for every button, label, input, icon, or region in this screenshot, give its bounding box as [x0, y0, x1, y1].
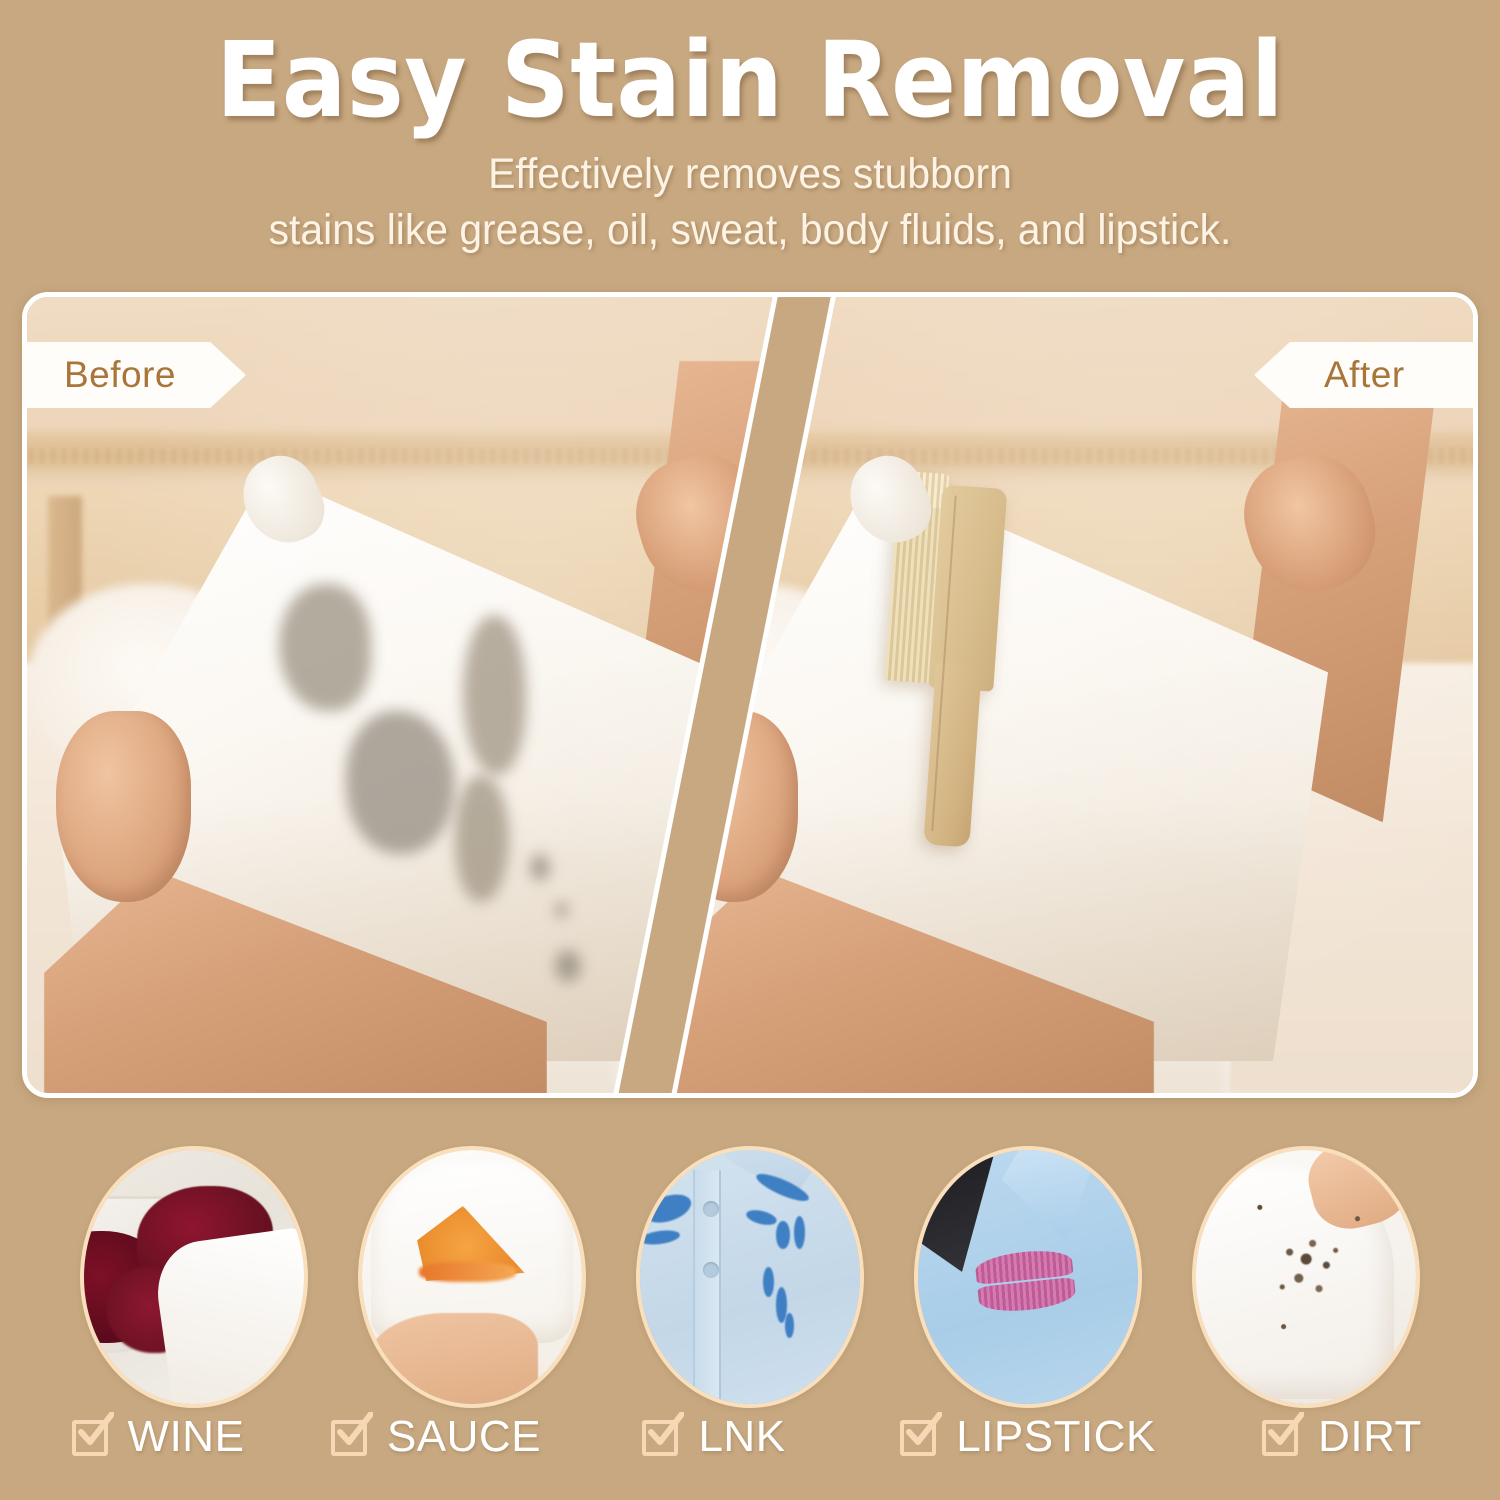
checkbox-checked-icon — [1262, 1416, 1304, 1458]
stain-label-sauce: SAUCE — [322, 1412, 550, 1462]
stain-label-text: SAUCE — [387, 1412, 541, 1462]
before-badge-label: Before — [64, 354, 176, 396]
before-after-comparison: Before After — [22, 292, 1478, 1098]
stain-spot — [555, 902, 568, 918]
header: Easy Stain Removal Effectively removes s… — [0, 0, 1500, 259]
thumbnail-dirt[interactable] — [1192, 1146, 1420, 1408]
checkbox-checked-icon — [72, 1416, 114, 1458]
thumbnail-ink[interactable] — [636, 1146, 864, 1408]
stain-spot — [279, 584, 371, 711]
page-title: Easy Stain Removal — [60, 26, 1440, 135]
stain-label-row: WINE SAUCE LNK LIPSTICK — [0, 1412, 1500, 1462]
checkbox-checked-icon — [642, 1416, 684, 1458]
stain-spot — [346, 711, 455, 854]
thumbnail-lipstick[interactable] — [914, 1146, 1142, 1408]
stain-label-dirt: DIRT — [1228, 1412, 1456, 1462]
after-badge-label: After — [1324, 354, 1405, 396]
stain-label-text: LNK — [698, 1412, 785, 1462]
checkbox-checked-icon — [331, 1416, 373, 1458]
thumbnail-wine[interactable] — [80, 1146, 308, 1408]
page-subtitle: Effectively removes stubborn stains like… — [38, 147, 1463, 259]
comparison-panel — [22, 292, 1478, 1098]
stain-label-wine: WINE — [44, 1412, 272, 1462]
subtitle-line-2: stains like grease, oil, sweat, body flu… — [38, 203, 1463, 259]
stain-label-text: LIPSTICK — [956, 1412, 1156, 1462]
stain-thumbnail-row — [0, 1146, 1500, 1408]
fist-before — [56, 711, 190, 902]
stain-label-ink: LNK — [600, 1412, 828, 1462]
stain-spot — [555, 950, 580, 982]
checkbox-checked-icon — [900, 1416, 942, 1458]
stain-label-lipstick: LIPSTICK — [878, 1412, 1178, 1462]
subtitle-line-1: Effectively removes stubborn — [38, 147, 1463, 203]
thumbnail-sauce[interactable] — [358, 1146, 586, 1408]
stain-label-text: WINE — [128, 1412, 245, 1462]
before-badge: Before — [22, 342, 246, 408]
after-badge: After — [1254, 342, 1478, 408]
stain-label-text: DIRT — [1318, 1412, 1422, 1462]
stain-spot — [463, 615, 526, 774]
stain-spot — [455, 775, 510, 902]
